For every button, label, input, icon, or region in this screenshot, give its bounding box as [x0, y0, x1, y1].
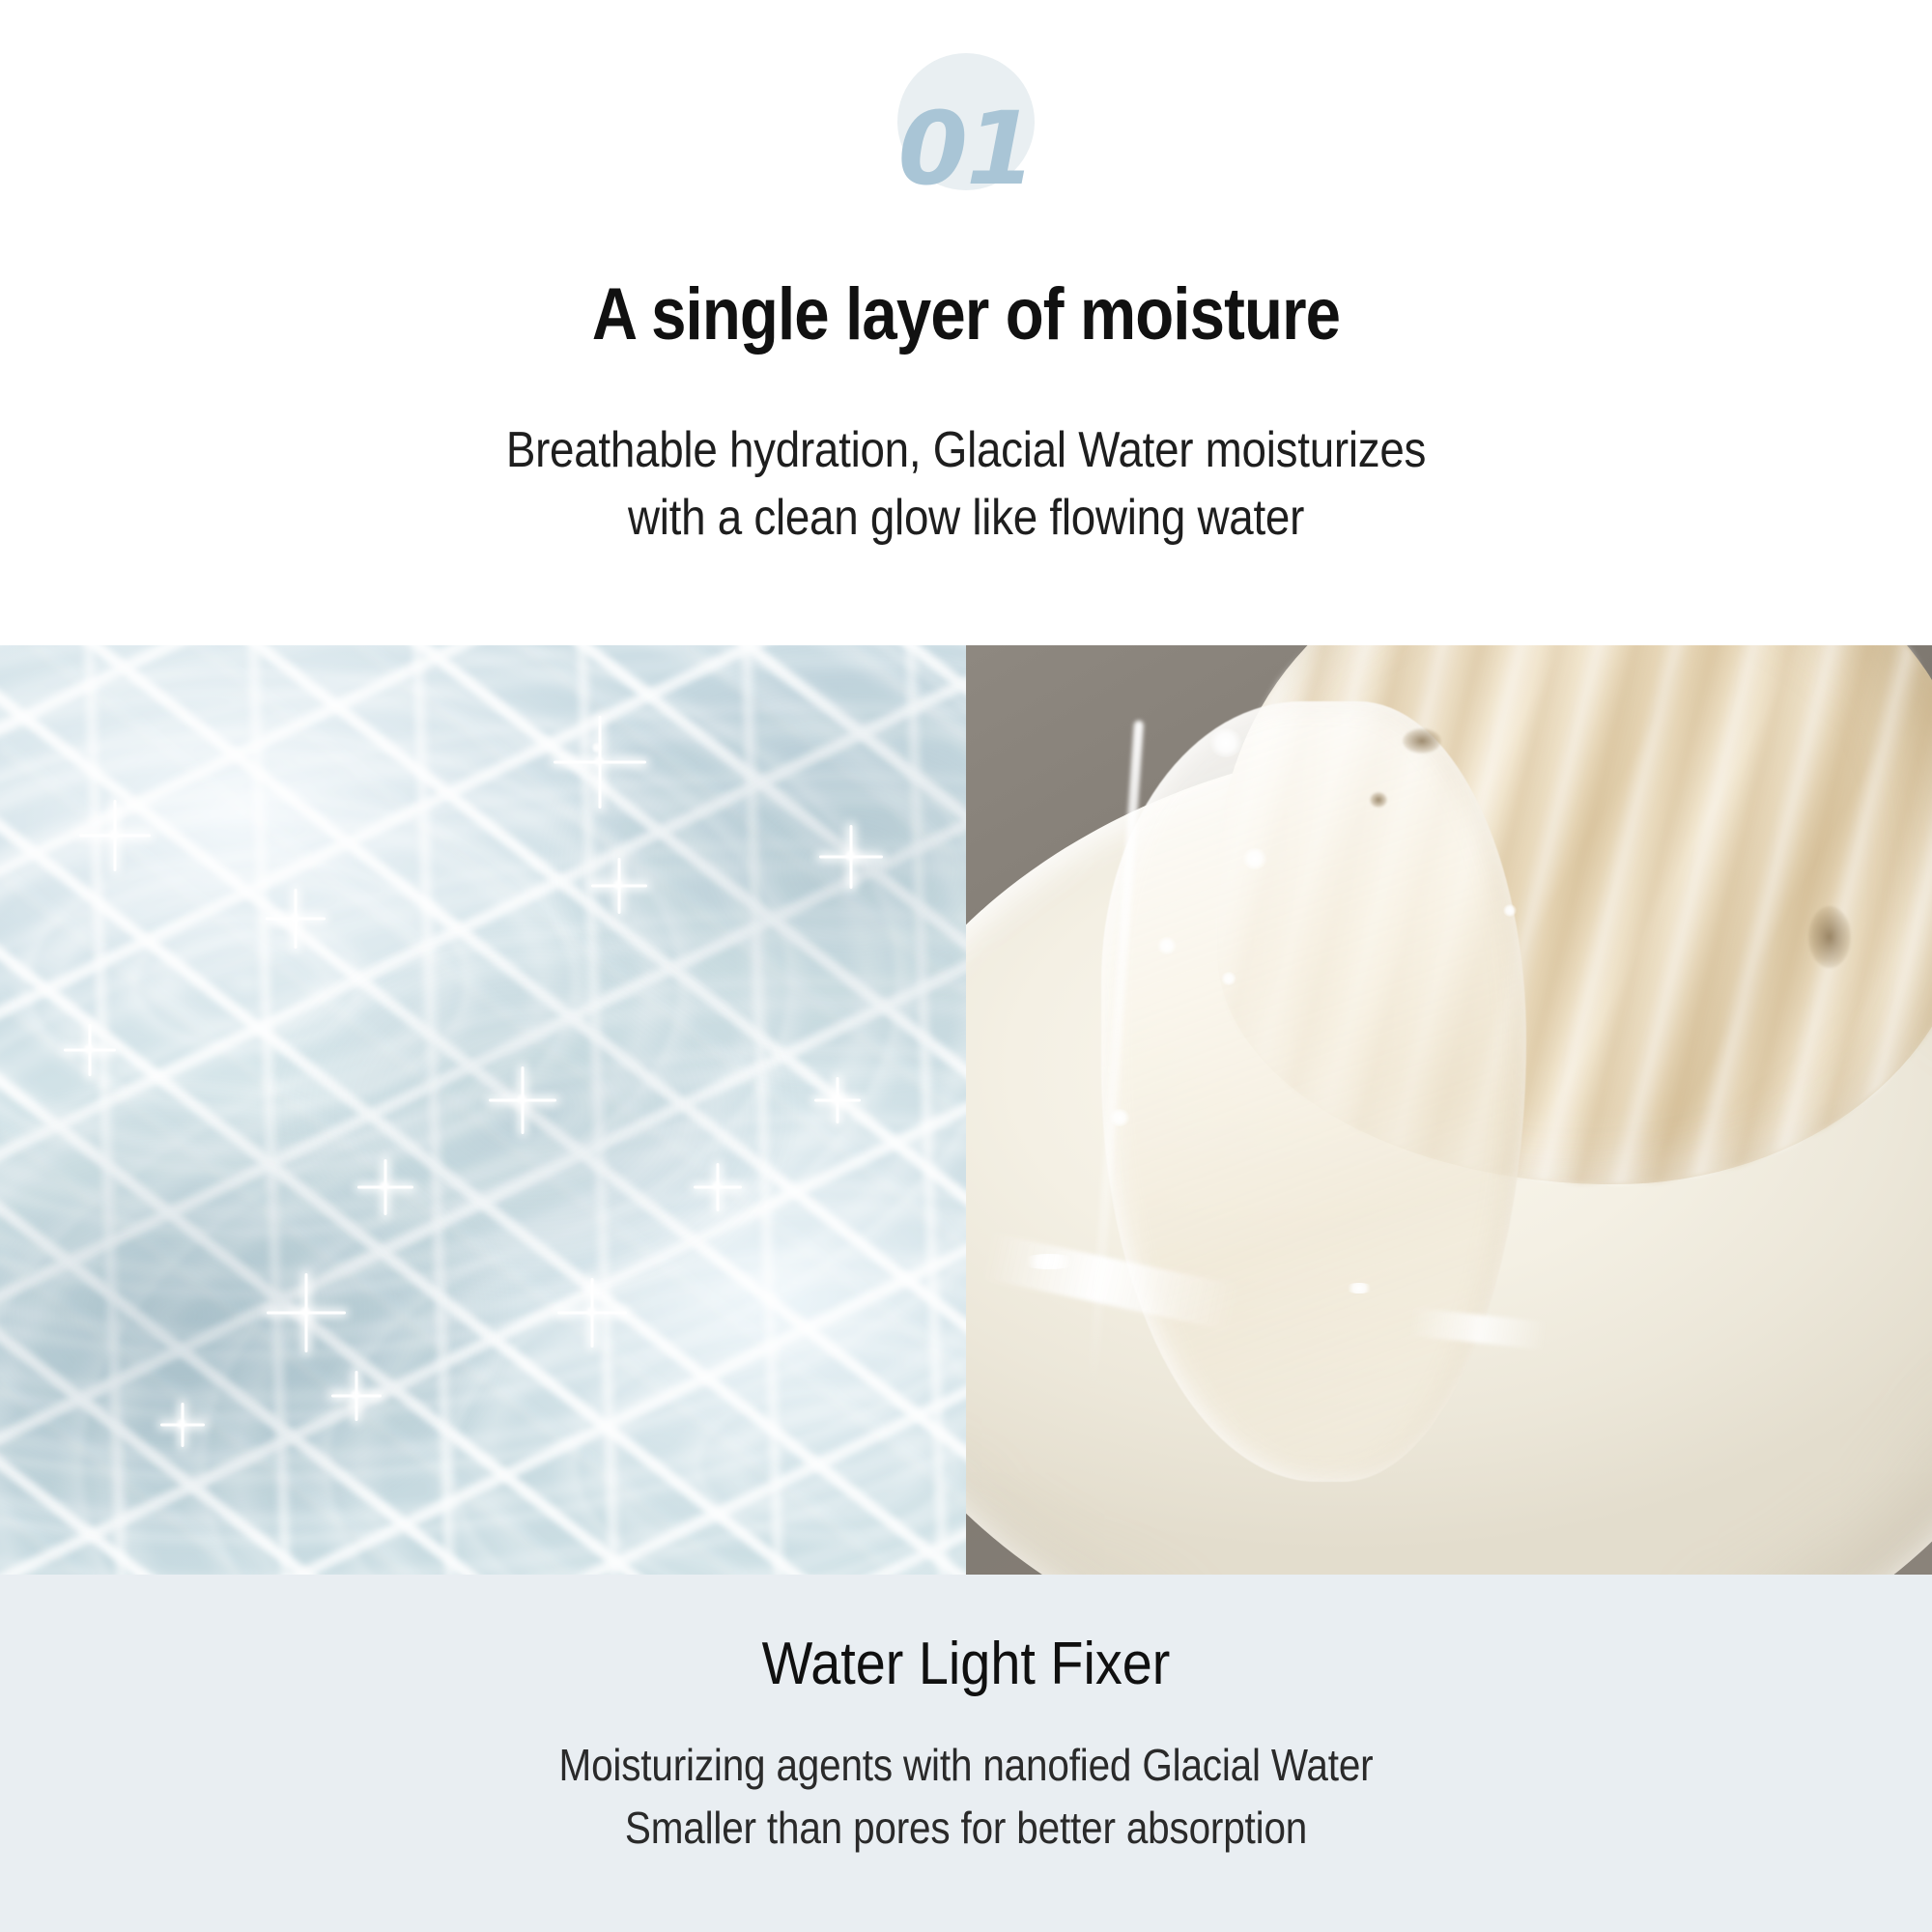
bottle-speck-icon: [1403, 728, 1441, 753]
serum-highlight-icon: [1209, 728, 1242, 757]
water-sparkle-icon: [89, 1049, 91, 1051]
water-sparkle-icon: [295, 918, 297, 920]
product-name: Water Light Fixer: [97, 1630, 1835, 1698]
water-sparkle-icon: [384, 1186, 386, 1188]
water-sparkle-icon: [522, 1099, 524, 1101]
product-description: Moisturizing agents with nanofied Glacia…: [116, 1734, 1816, 1861]
water-sparkle-icon: [182, 1424, 184, 1426]
water-sparkle-icon: [717, 1186, 719, 1188]
water-sparkle-icon: [114, 835, 116, 837]
subtitle-line-1: Breathable hydration, Glacial Water mois…: [116, 417, 1816, 485]
water-photo: [0, 645, 966, 1575]
water-sparkle-icon: [591, 742, 603, 753]
serum-highlight-icon: [1157, 937, 1177, 954]
serum-highlight-icon: [1109, 1109, 1130, 1126]
page-title: A single layer of moisture: [135, 274, 1797, 355]
serum-photo: [966, 645, 1932, 1575]
water-sparkle-icon: [355, 1395, 357, 1397]
water-depth-shading: [0, 645, 966, 1575]
promo-page: 01 A single layer of moisture Breathable…: [0, 0, 1932, 1932]
step-badge: 01: [0, 48, 1932, 203]
water-sparkle-icon: [618, 885, 620, 887]
water-sparkle-icon: [837, 1099, 838, 1101]
bottle-speck-icon: [1370, 792, 1387, 808]
page-subtitle: Breathable hydration, Glacial Water mois…: [116, 417, 1816, 552]
description-line-1: Moisturizing agents with nanofied Glacia…: [116, 1734, 1816, 1797]
description-line-2: Smaller than pores for better absorption: [116, 1797, 1816, 1860]
water-sparkle-icon: [599, 761, 601, 763]
bottle-speck-icon: [1808, 906, 1851, 968]
image-strip: [0, 645, 1932, 1575]
caption-section: Water Light Fixer Moisturizing agents wi…: [0, 1575, 1932, 1932]
serum-highlight-icon: [1345, 1283, 1374, 1293]
header-section: 01 A single layer of moisture Breathable…: [0, 0, 1932, 645]
water-sparkle-icon: [591, 1312, 593, 1314]
serum-highlight-icon: [1503, 904, 1517, 917]
subtitle-line-2: with a clean glow like flowing water: [116, 485, 1816, 553]
step-number: 01: [898, 99, 1035, 199]
water-sparkle-icon: [850, 856, 852, 858]
serum-highlight-icon: [1221, 972, 1236, 985]
serum-highlight-icon: [1242, 848, 1267, 869]
water-sparkle-icon: [305, 1312, 307, 1314]
